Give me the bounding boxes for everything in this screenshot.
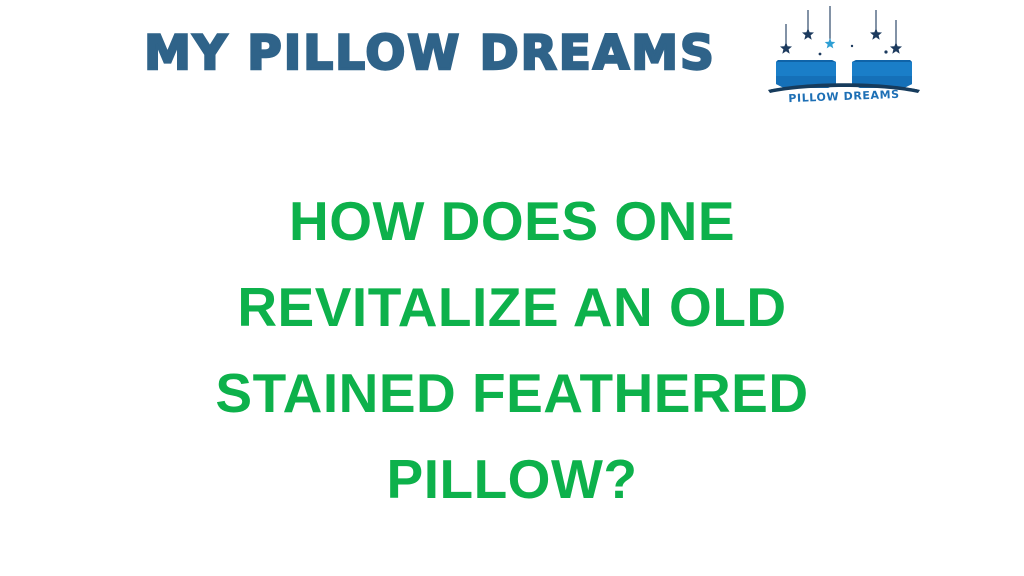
hanging-star-group — [786, 6, 896, 46]
headline-line-1: HOW DOES ONE — [0, 178, 1024, 264]
page-title: HOW DOES ONE REVITALIZE AN OLD STAINED F… — [0, 178, 1024, 522]
headline-line-3: STAINED FEATHERED — [0, 350, 1024, 436]
brand-header: MY PILLOW DREAMS — [0, 0, 1024, 125]
star-glyphs — [780, 28, 902, 55]
pillow-dreams-logo: PILLOW DREAMS — [766, 2, 922, 120]
crescent-moon-icon — [841, 12, 858, 46]
site-title: MY PILLOW DREAMS — [110, 28, 750, 80]
headline-line-2: REVITALIZE AN OLD — [0, 264, 1024, 350]
headline-line-4: PILLOW? — [0, 436, 1024, 522]
slide-canvas: MY PILLOW DREAMS — [0, 0, 1024, 576]
